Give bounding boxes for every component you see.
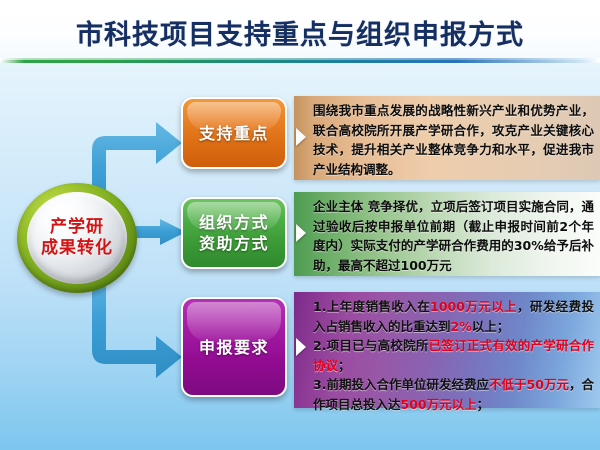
panel-arrow-tab-2 (294, 222, 308, 244)
label-box-1-line-1: 支持重点 (199, 123, 269, 144)
panel-arrow-tab-3 (294, 336, 308, 358)
triangle-right-icon (296, 224, 306, 242)
highlighted-text: 1000万元以上 (430, 299, 517, 314)
panel-body-1: 围绕我市重点发展的战略性新兴产业和优势产业，联合高校院所开展产学研合作，攻克产业… (313, 101, 594, 179)
highlighted-text: 2% (451, 319, 472, 334)
highlighted-text: 不低于50万元 (489, 377, 569, 392)
label-box-organization-funding[interactable]: 组织方式 资助方式 (181, 197, 287, 269)
arrow-hub-to-row-2 (128, 219, 188, 245)
content-panel-organization-funding: 企业主体 竞争择优，立项后签订项目实施合同，通过验收后按申报单位前期（截止申报时… (294, 192, 600, 276)
content-panel-support-focus: 围绕我市重点发展的战略性新兴产业和优势产业，联合高校院所开展产学研合作，攻克产业… (294, 96, 600, 180)
body-text: 以上； (472, 319, 510, 334)
panel-body-3: 1.上年度销售收入在1000万元以上，研发经费投入占销售收入的比重达到2%以上；… (313, 297, 594, 414)
body-text: 1.上年度销售收入在 (313, 299, 430, 314)
body-text: ； (477, 397, 490, 412)
label-box-3-line-1: 申报要求 (199, 337, 269, 358)
triangle-right-icon (296, 128, 306, 146)
slide-canvas: 市科技项目支持重点与组织申报方式 (0, 0, 600, 450)
label-box-2-line-2: 资助方式 (199, 233, 269, 254)
panel-arrow-tab-1 (294, 126, 308, 148)
body-text: 围绕我市重点发展的战略性新兴产业和优势产业，联合高校院所开展产学研合作，攻克产业… (313, 103, 594, 177)
hub-label-line-1: 产学研 (50, 217, 104, 238)
content-panel-application-requirements: 1.上年度销售收入在1000万元以上，研发经费投入占销售收入的比重达到2%以上；… (294, 292, 600, 408)
label-box-application-requirements[interactable]: 申报要求 (181, 297, 287, 397)
hub-face: 产学研 成果转化 (27, 192, 127, 284)
label-box-support-focus[interactable]: 支持重点 (181, 97, 287, 169)
body-text: ； (338, 358, 351, 373)
title-divider-highlight (0, 58, 600, 60)
hub-label-line-2: 成果转化 (41, 238, 113, 259)
page-title: 市科技项目支持重点与组织申报方式 (0, 13, 600, 52)
slide-header: 市科技项目支持重点与组织申报方式 (0, 0, 600, 62)
highlighted-text: 500万元以上 (401, 397, 477, 412)
triangle-right-icon (296, 338, 306, 356)
body-text: 3.前期投入合作单位研发经费应 (313, 377, 489, 392)
panel-body-2: 企业主体 竞争择优，立项后签订项目实施合同，通过验收后按申报单位前期（截止申报时… (313, 197, 594, 275)
body-text: 2.项目已与高校院所 (313, 338, 429, 353)
hub-node[interactable]: 产学研 成果转化 (17, 183, 137, 293)
body-text: 企业主体 竞争择优，立项后签订项目实施合同，通过验收后按申报单位前期（截止申报时… (313, 199, 594, 273)
label-box-2-line-1: 组织方式 (199, 212, 269, 233)
